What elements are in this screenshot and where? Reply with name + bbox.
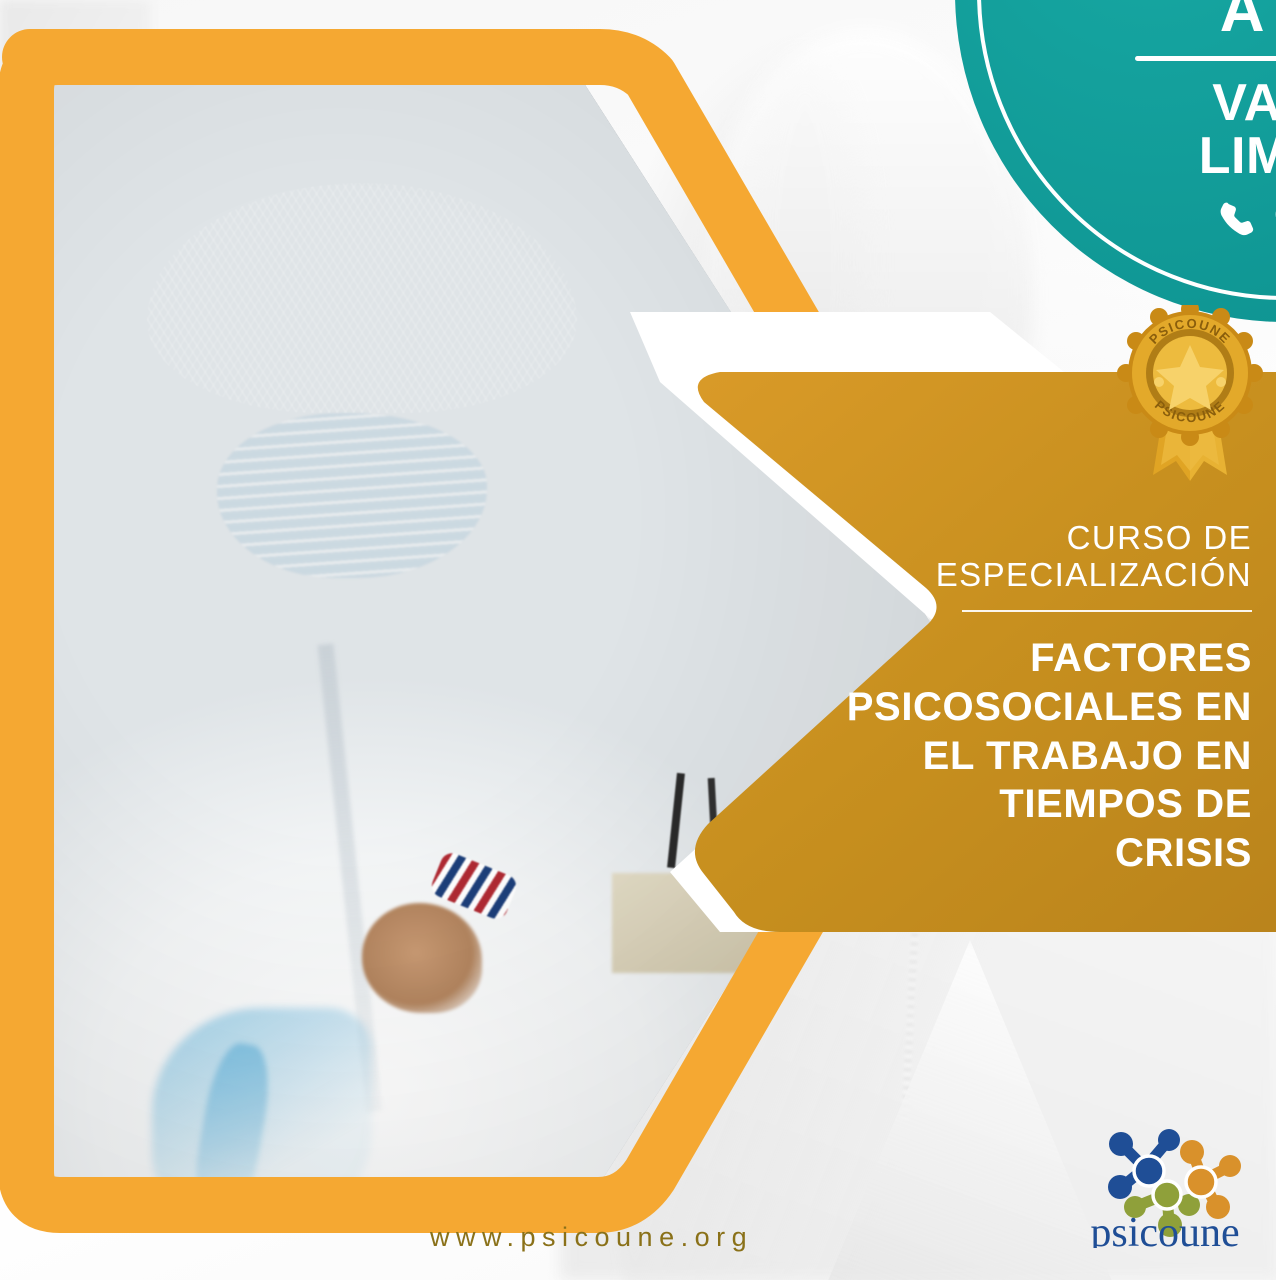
course-title-line-2: PSICOSOCIALES EN — [840, 683, 1252, 732]
award-medal-icon: PSICOUNE PSICOUNE — [1115, 305, 1265, 490]
teal-badge-content: A S/. VACA LIMITA 958 — [985, 0, 1276, 247]
phone-row: 958 — [985, 193, 1276, 247]
course-title-line-5: CRISIS — [840, 829, 1252, 878]
price-label: A S/. — [985, 0, 1276, 42]
course-title-line-1: FACTORES — [840, 634, 1252, 683]
phone-handset-icon — [1216, 199, 1258, 241]
vacancies-line-1: VACA — [985, 77, 1276, 130]
course-kicker-line-2: ESPECIALIZACIÓN — [840, 557, 1252, 594]
course-title-line-3: EL TRABAJO EN — [840, 732, 1252, 781]
course-title-line-4: TIEMPOS DE — [840, 780, 1252, 829]
psicoune-molecule-logo: psicoune — [1075, 1128, 1255, 1248]
vacancies-line-2: LIMITA — [985, 130, 1276, 183]
course-kicker-divider — [962, 610, 1252, 612]
psicoune-wordmark: psicoune — [1090, 1210, 1239, 1248]
website-url[interactable]: www.psicoune.org — [430, 1222, 753, 1253]
course-text-block: CURSO DE ESPECIALIZACIÓN FACTORES PSICOS… — [840, 520, 1252, 878]
course-kicker-line-1: CURSO DE — [840, 520, 1252, 557]
promotional-poster: A S/. VACA LIMITA 958 — [0, 0, 1276, 1280]
badge-divider — [1135, 56, 1276, 61]
